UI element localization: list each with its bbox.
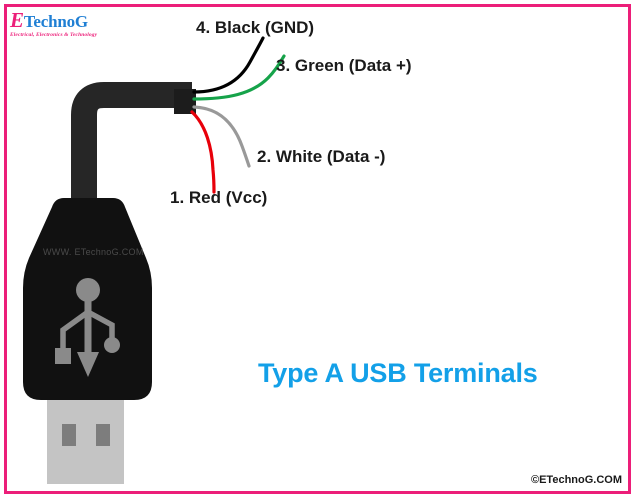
wire-label-black-gnd: 4. Black (GND) [196,18,314,38]
watermark-text: WWW. ETechnoG.COM [43,247,144,257]
wire-red-vcc [192,112,214,192]
usb-plug-hole-left [62,424,76,446]
usb-diagram-page: ETechnoG Electrical, Electronics & Techn… [0,0,639,502]
copyright-notice: ©ETechnoG.COM [531,474,622,486]
diagram-title: Type A USB Terminals [258,358,538,389]
usb-plug-hole-right [96,424,110,446]
wire-label-red-vcc: 1. Red (Vcc) [170,188,267,208]
logo-tagline: Electrical, Electronics & Technology [10,33,150,39]
logo-name: TechnoG [24,12,88,31]
wire-label-green-data-plus: 3. Green (Data +) [276,56,412,76]
logo-wordmark: ETechnoG [10,10,150,31]
usb-metal-plug [47,398,124,484]
etechnog-logo: ETechnoG Electrical, Electronics & Techn… [10,10,150,42]
logo-initial: E [10,8,24,32]
wire-black-gnd [194,38,263,92]
wire-label-white-data-minus: 2. White (Data -) [257,147,385,167]
wire-white-data-minus [194,107,249,166]
